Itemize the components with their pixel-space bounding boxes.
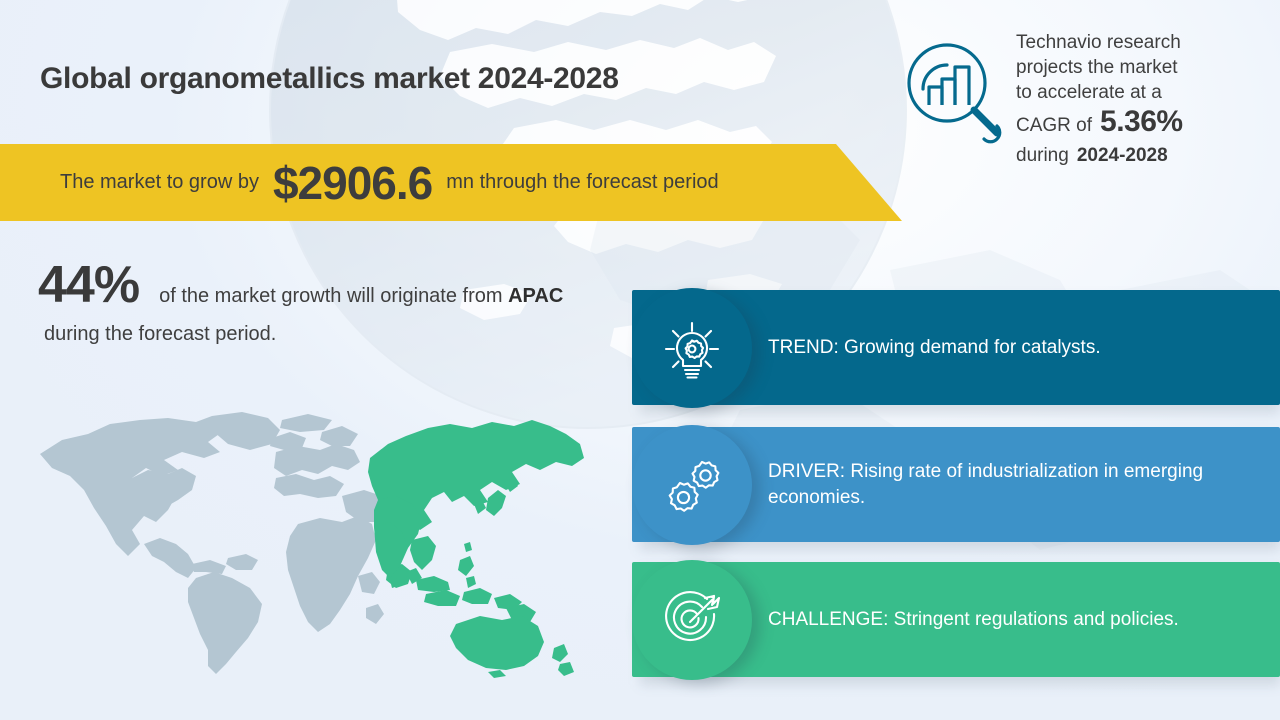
growth-banner-suffix: mn through the forecast period — [446, 171, 718, 194]
world-map — [36, 412, 588, 680]
cagr-line-2: projects the market — [1016, 55, 1266, 80]
lightbulb-gear-icon — [657, 313, 727, 383]
challenge-icon-circle — [632, 560, 752, 680]
growth-banner-prefix: The market to grow by — [60, 171, 259, 194]
insight-bar-challenge[interactable]: CHALLENGE: Stringent regulations and pol… — [632, 562, 1280, 677]
cagr-value-row: CAGR of 5.36% — [1016, 105, 1266, 139]
world-map-apac-highlight — [368, 420, 584, 678]
cagr-line-1: Technavio research — [1016, 30, 1266, 55]
region-share-number: 44% — [38, 255, 139, 315]
cagr-during-label: during — [1016, 143, 1069, 168]
region-share-text: of the market growth will originate from… — [159, 285, 563, 308]
growth-banner-content: The market to grow by $2906.6 mn through… — [60, 144, 719, 221]
magnifier-bar-chart-icon — [901, 37, 1009, 145]
region-share-region: APAC — [508, 285, 563, 307]
region-share-row: 44% of the market growth will originate … — [38, 255, 618, 315]
insight-bar-trend[interactable]: TREND: Growing demand for catalysts. — [632, 290, 1280, 405]
cagr-block: Technavio research projects the market t… — [1016, 30, 1266, 168]
driver-icon-circle — [632, 425, 752, 545]
insight-text-driver: DRIVER: Rising rate of industrialization… — [768, 459, 1256, 511]
world-map-base — [40, 412, 388, 674]
cagr-label: CAGR of — [1016, 113, 1092, 138]
region-share-subtext: during the forecast period. — [44, 323, 618, 346]
target-arrow-icon — [657, 585, 727, 655]
growth-banner-value: $2906.6 — [273, 156, 432, 210]
infographic-canvas: Global organometallics market 2024-2028 … — [0, 0, 1280, 720]
insight-text-trend: TREND: Growing demand for catalysts. — [768, 335, 1256, 361]
region-share-stat: 44% of the market growth will originate … — [38, 255, 618, 346]
growth-banner: The market to grow by $2906.6 mn through… — [0, 144, 902, 221]
insight-text-challenge: CHALLENGE: Stringent regulations and pol… — [768, 607, 1256, 633]
cagr-line-3: to accelerate at a — [1016, 80, 1266, 105]
trend-icon-circle — [632, 288, 752, 408]
region-share-text-before: of the market growth will originate from — [159, 285, 502, 307]
gears-icon — [657, 450, 727, 520]
cagr-period-row: during 2024-2028 — [1016, 143, 1266, 168]
cagr-period: 2024-2028 — [1077, 145, 1168, 167]
cagr-value: 5.36% — [1100, 105, 1183, 139]
page-title: Global organometallics market 2024-2028 — [40, 62, 619, 96]
insight-bar-driver[interactable]: DRIVER: Rising rate of industrialization… — [632, 427, 1280, 542]
